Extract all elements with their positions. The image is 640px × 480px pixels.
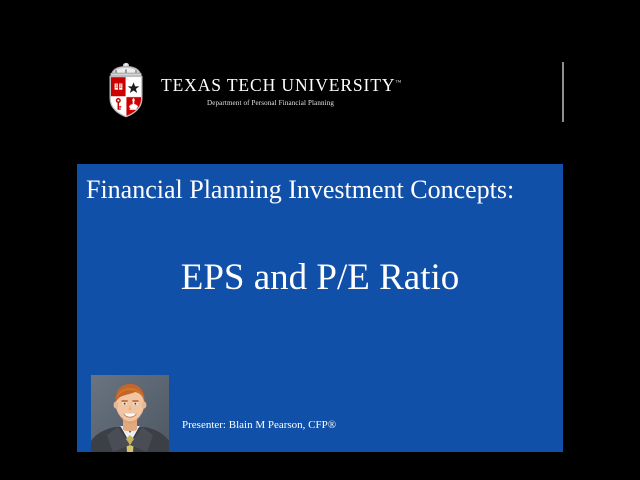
letterbox-top — [0, 0, 640, 40]
slide-left-margin — [0, 40, 77, 428]
slide-subtitle: EPS and P/E Ratio — [77, 258, 563, 299]
presenter-headshot-photo — [91, 375, 169, 452]
texas-tech-shield-crest-icon — [105, 62, 147, 118]
university-name-text: TEXAS TECH UNIVERSITY — [161, 75, 395, 95]
slide-right-margin — [563, 40, 640, 428]
presentation-slide: TEXAS TECH UNIVERSITY™ Department of Per… — [0, 40, 640, 428]
slide-title: Financial Planning Investment Concepts: — [86, 176, 514, 205]
slide-content-panel: Financial Planning Investment Concepts: … — [77, 164, 563, 452]
video-frame: TEXAS TECH UNIVERSITY™ Department of Per… — [0, 0, 640, 480]
trademark-icon: ™ — [395, 80, 401, 86]
university-wordmark: TEXAS TECH UNIVERSITY™ Department of Per… — [161, 73, 401, 108]
university-name: TEXAS TECH UNIVERSITY™ — [161, 77, 401, 95]
presenter-credit: Presenter: Blain M Pearson, CFP® — [182, 420, 336, 431]
university-logo-band: TEXAS TECH UNIVERSITY™ Department of Per… — [77, 56, 563, 124]
department-name: Department of Personal Financial Plannin… — [207, 100, 334, 107]
